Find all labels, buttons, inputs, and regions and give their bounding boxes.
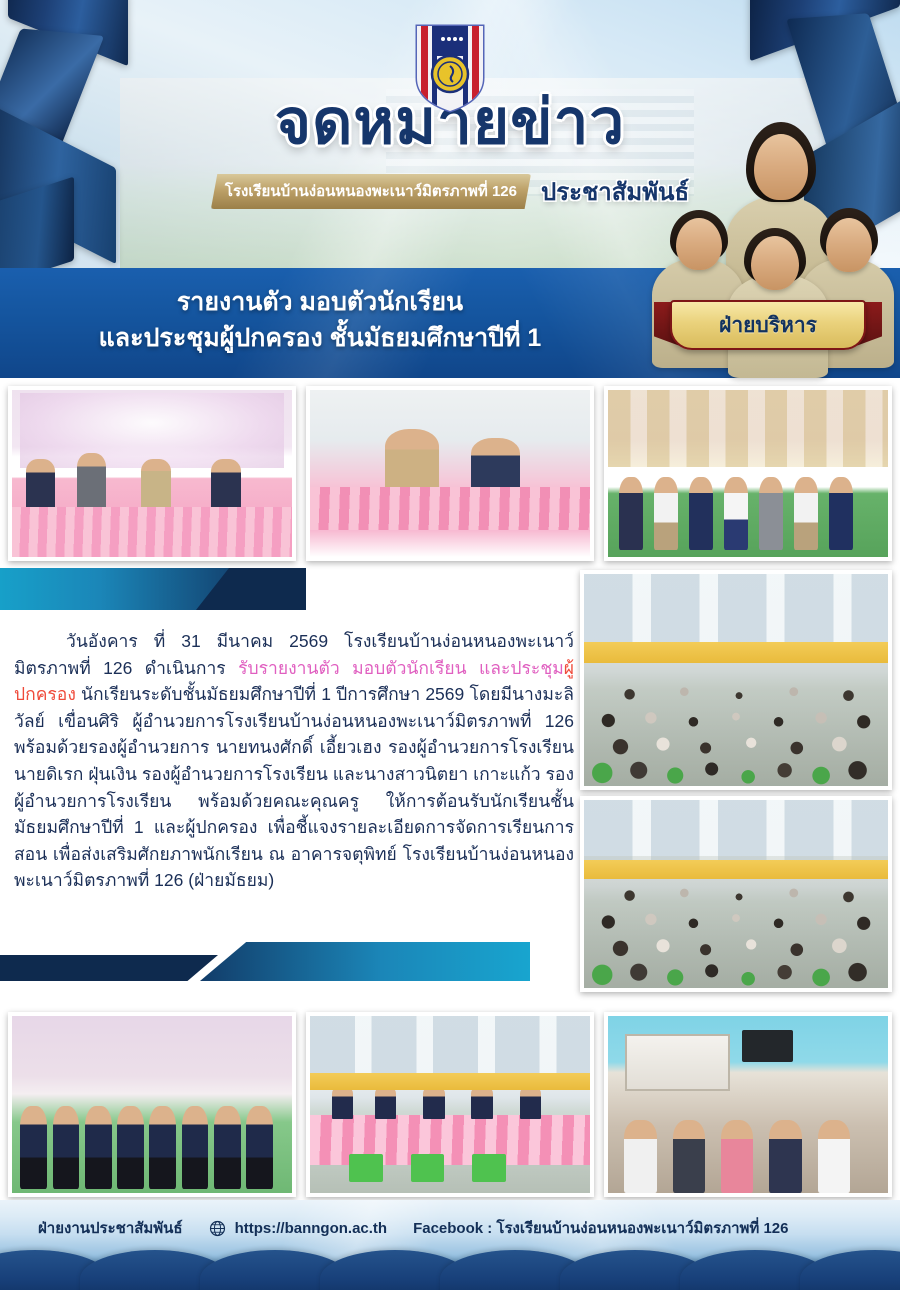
topic-line-1: รายงานตัว มอบตัวนักเรียน [0,284,640,320]
portrait-deputy3-face [751,236,799,290]
photo-auditorium-wide [580,570,892,790]
article-body: วันอังคาร ที่ 31 มีนาคม 2569 โรงเรียนบ้า… [14,628,574,894]
photo-classroom-session [604,1012,892,1197]
footer-department: ฝ่ายงานประชาสัมพันธ์ [38,1216,183,1240]
portrait-deputy2-face [826,218,872,272]
decor-band-bottom-navy [0,955,218,981]
article-segment-2: นักเรียนระดับชั้นมัธยมศึกษาปีที่ 1 ปีการ… [14,684,574,890]
footer-website-link[interactable]: https://banngon.ac.th [235,1220,387,1237]
article-highlight-pink: รับรายงานตัว มอบตัวนักเรียน และประชุม [238,658,564,678]
topic-heading: รายงานตัว มอบตัวนักเรียน และประชุมผู้ปกค… [0,284,640,357]
school-name-plate: โรงเรียนบ้านง่อนหนองพะเนาว์มิตรภาพที่ 12… [211,174,531,209]
newsletter-page: จดหมายข่าว โรงเรียนบ้านง่อนหนองพะเนาว์มิ… [0,0,900,1290]
exec-ribbon-banner: ฝ่ายบริหาร [664,300,872,354]
photo-parent-meeting-stage [8,386,296,561]
exec-banner-label: ฝ่ายบริหาร [719,309,817,342]
photo-registration-tables [306,1012,594,1197]
photo-director-table [306,386,594,561]
footer-facebook[interactable]: Facebook : โรงเรียนบ้านง่อนหนองพะเนาว์มิ… [413,1216,788,1240]
portrait-deputy1-face [676,218,722,270]
school-crest-shield-icon [413,22,487,114]
footer-wave-decoration [0,1234,900,1290]
portrait-director-face [754,134,808,200]
ribbon-band: ฝ่ายบริหาร [670,300,866,350]
photo-award-students [604,386,892,561]
topic-line-2: และประชุมผู้ปกครอง ชั้นมัธยมศึกษาปีที่ 1 [0,320,640,356]
footer-bar: ฝ่ายงานประชาสัมพันธ์ https://banngon.ac.… [0,1200,900,1290]
footer-contact-row: ฝ่ายงานประชาสัมพันธ์ https://banngon.ac.… [38,1216,789,1240]
photo-teachers-group [8,1012,296,1197]
globe-icon [209,1220,226,1237]
decor-band-bottom-teal [200,942,530,981]
photo-auditorium-seated [580,796,892,992]
